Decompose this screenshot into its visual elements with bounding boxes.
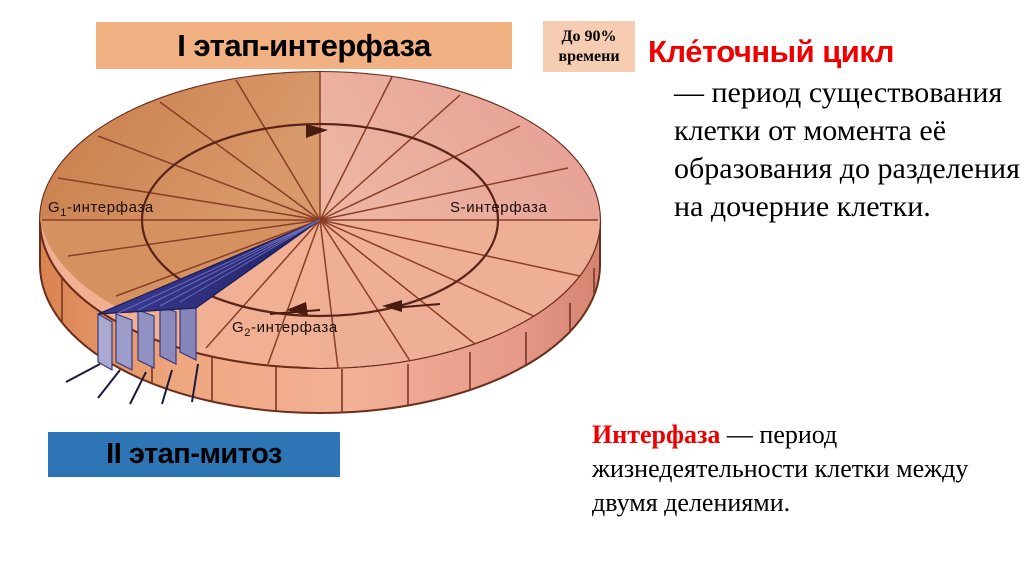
cell-cycle-disc-diagram: G1-интерфаза S-интерфаза G2-интерфаза [20,60,620,420]
label-s-interphase: S-интерфаза [450,199,547,216]
interphase-keyword: Интерфаза [592,420,720,449]
cell-cycle-title: Кле́точный цикл [648,34,894,69]
banner-stage-2-mitosis: II этап-митоз [48,432,340,477]
slide-root: I этап-интерфаза До 90% времени II этап-… [0,0,1024,574]
sector-s-fill [320,72,600,220]
sector-g2-right-fill [320,220,600,368]
interphase-definition: Интерфаза — период жизнедеятельности кле… [592,418,1012,520]
cell-cycle-body: — период существования клетки от момента… [674,74,1020,226]
cell-cycle-definition: Кле́точный цикл — период существования к… [648,33,1020,226]
note-line-1: До 90% [561,27,616,47]
